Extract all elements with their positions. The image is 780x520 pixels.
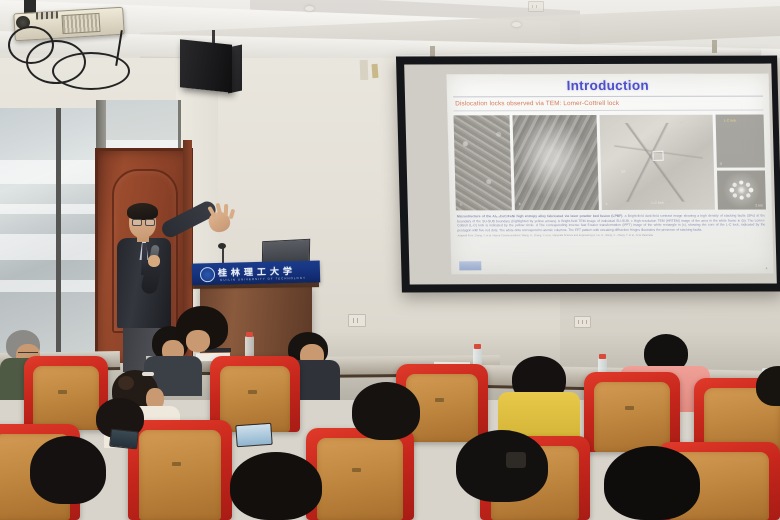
seat-tag — [172, 462, 181, 466]
presenter-glasses-lens-right — [145, 219, 155, 226]
tem-panel-b: b — [512, 115, 598, 210]
seat-tag — [625, 406, 634, 410]
smartphone[interactable] — [109, 429, 139, 450]
bottle-cap — [246, 332, 253, 337]
projector-vent — [61, 13, 100, 34]
hair-accessory — [506, 452, 526, 468]
attendee-head-foreground — [30, 436, 106, 504]
wall-speaker — [180, 39, 232, 92]
screen-surface: Introduction Dislocation locks observed … — [404, 64, 777, 285]
panel-label-d: d — [720, 162, 722, 166]
ceiling-fixture — [528, 1, 544, 12]
lectern-banner: 桂林理工大学 GUILIN UNIVERSITY OF TECHNOLOGY — [192, 260, 320, 285]
seat-back — [594, 382, 670, 452]
slide-title: Introduction — [446, 74, 769, 94]
seat-back — [139, 430, 221, 520]
panel-label-c: c — [606, 202, 608, 206]
seat-back — [33, 366, 99, 430]
subtitle-divider — [453, 110, 763, 112]
slide-caption: Microstructure of the Al₀.₃CoCrFeNi high… — [457, 214, 766, 233]
tem-figure-row: a b SF L-C lock c L-C lock d — [453, 115, 765, 211]
seat-tag — [352, 468, 361, 472]
seat-tag — [248, 390, 257, 394]
attendee-head-foreground — [456, 430, 548, 502]
wall-outlet[interactable] — [574, 316, 591, 328]
university-name-en: GUILIN UNIVERSITY OF TECHNOLOGY — [220, 276, 306, 282]
presenter-finger — [224, 204, 228, 216]
hair-clip — [142, 372, 154, 376]
window-mullion — [56, 108, 61, 353]
lectern-mic-stand — [222, 248, 224, 264]
window-frosted-stripe — [0, 204, 96, 214]
seat-tag — [435, 398, 444, 402]
tem-panel-column: L-C lock d 2 nm — [716, 115, 766, 210]
attendee-head-foreground — [352, 382, 420, 440]
seat-tag — [58, 390, 67, 394]
tem-panel-d-lattice: L-C lock d — [716, 115, 765, 168]
slide-subtitle: Dislocation locks observed via TEM: Lome… — [447, 97, 769, 108]
scale-bar-label: 2 nm — [755, 204, 763, 208]
screen-bracket — [712, 40, 717, 53]
seat-back — [220, 366, 290, 432]
university-logo — [200, 267, 215, 282]
presentation-slide: Introduction Dislocation locks observed … — [446, 74, 773, 275]
presenter-mic-hand — [148, 255, 160, 267]
panel-d-annotation: L-C lock — [724, 119, 737, 123]
attendee-hair-bun — [118, 376, 134, 390]
bottle-cap — [599, 354, 606, 359]
ceiling-light — [512, 22, 521, 27]
panel-label-a: a — [460, 202, 462, 206]
lectern-microphone[interactable] — [218, 243, 226, 249]
attendee-head-foreground — [230, 452, 322, 520]
window-glass — [0, 108, 96, 353]
window — [0, 108, 100, 353]
attendee-face — [186, 330, 210, 352]
region-of-interest-box — [652, 151, 663, 161]
window-frosted-stripe — [0, 160, 96, 184]
bottle-cap — [474, 344, 481, 349]
projector-controls — [36, 11, 58, 19]
presenter-hair — [127, 203, 158, 220]
slide-reference: Adapted from: Zhang, Y. et al. Nature Co… — [457, 234, 765, 238]
tem-fft-diffraction-pattern: 2 nm — [717, 171, 766, 210]
attendee-head-foreground — [604, 446, 700, 520]
projection-screen: Introduction Dislocation locks observed … — [396, 56, 780, 293]
wall-outlet[interactable] — [348, 314, 366, 327]
seat-back — [317, 438, 403, 520]
tem-panel-c: SF L-C lock c — [600, 115, 715, 210]
wall-bracket — [360, 60, 369, 80]
presenter-glasses-lens-left — [132, 219, 142, 226]
window-frosted-stripe — [0, 280, 96, 292]
slide-logo — [459, 261, 481, 270]
panel-c-lock-label: L-C lock — [651, 201, 664, 205]
slide-page-number: 4 — [766, 267, 768, 271]
lecture-hall-photo: 桂林理工大学 材料科学与工程学院 分析测试中心 Introduction Dis… — [0, 0, 780, 520]
ceiling-light — [305, 6, 314, 11]
tem-panel-a: a — [453, 115, 511, 210]
panel-label-b: b — [519, 202, 521, 206]
panel-c-sf-label: SF — [621, 170, 625, 174]
wall-bracket — [372, 64, 379, 78]
smartphone[interactable] — [235, 423, 272, 447]
window-frosted-stripe — [0, 234, 96, 260]
